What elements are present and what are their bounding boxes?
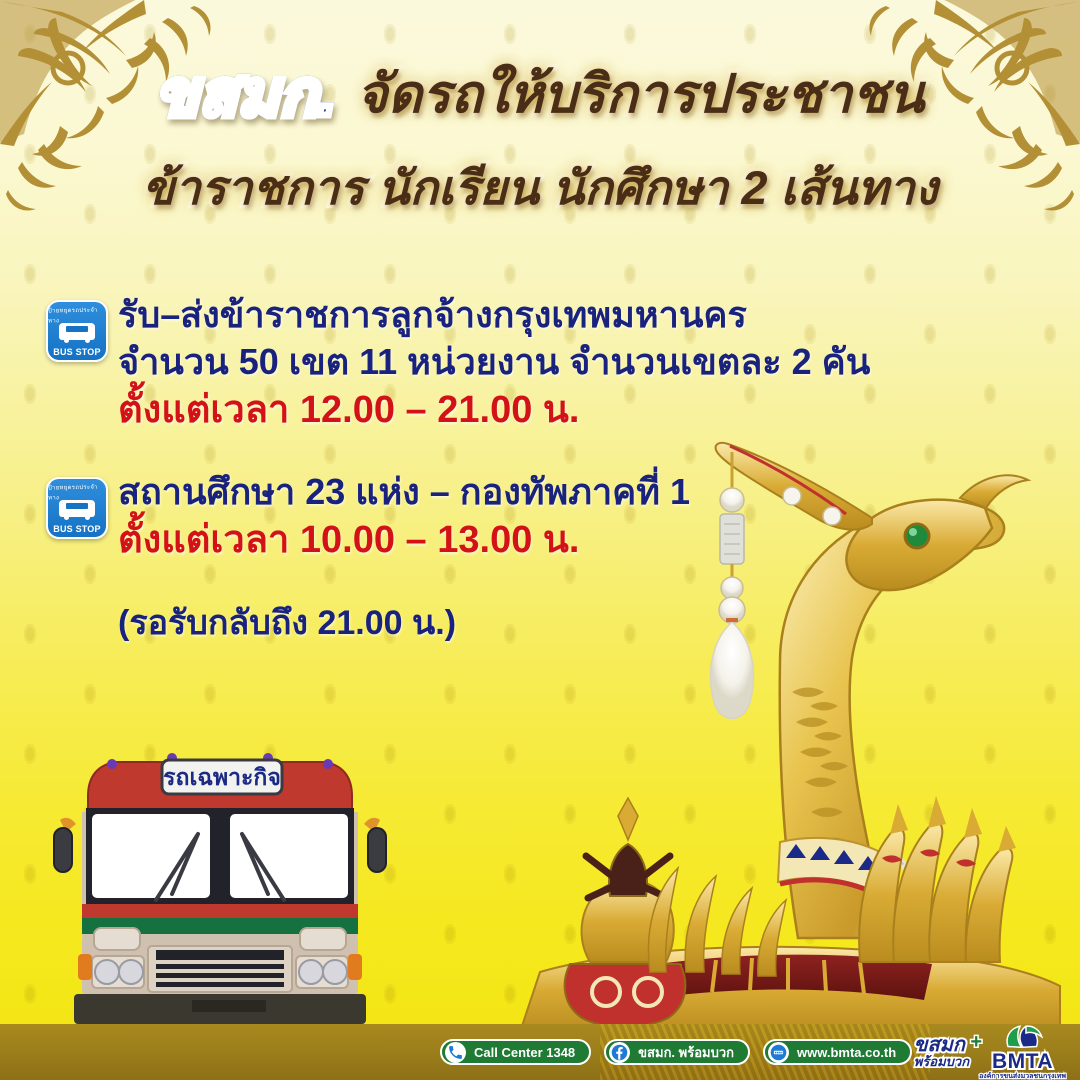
bus-stop-icon-label: BUS STOP [48, 524, 106, 534]
logo-ksmk-line1: ขสมก [914, 1036, 969, 1055]
footer-logos: ขสมก พร้อมบวก + BMTA องค์การขนส่งมวลชนกร… [914, 1024, 1066, 1080]
plus-icon: + [970, 1031, 982, 1054]
poster-root: ขสมก. จัดรถให้บริการประชาชน ข้าราชการ นั… [0, 0, 1080, 1080]
contact-label: Call Center 1348 [474, 1045, 575, 1060]
service-block-1: ป้ายหยุดรถประจำทาง BUS STOP รับ–ส่งข้ารา… [46, 292, 926, 435]
contact-facebook[interactable]: ขสมก. พร้อมบวก [604, 1039, 750, 1065]
return-note: (รอรับกลับถึง 21.00 น.) [46, 601, 926, 645]
service-line: รับ–ส่งข้าราชการลูกจ้างกรุงเทพมหานคร [118, 292, 926, 339]
logo-bmta: BMTA องค์การขนส่งมวลชนกรุงเทพ [979, 1024, 1066, 1080]
logo-bmta-name: BMTA [992, 1051, 1053, 1072]
contact-website[interactable]: www.bmta.co.th [763, 1039, 912, 1065]
logo-ksmk-promnuak: ขสมก พร้อมบวก + [914, 1036, 969, 1068]
service-time: ตั้งแต่เวลา 10.00 – 13.00 น. [118, 516, 926, 565]
bmta-ribbon-icon [1000, 1024, 1046, 1051]
bus-stop-icon-label: BUS STOP [48, 347, 106, 357]
contact-label: ขสมก. พร้อมบวก [638, 1042, 734, 1063]
brand-ksmk: ขสมก. [156, 62, 337, 128]
phone-icon [445, 1042, 466, 1063]
headline-main: จัดรถให้บริการประชาชน [357, 66, 925, 124]
bus-destination-sign: รถเฉพาะกิจ [163, 764, 281, 790]
contact-call-center[interactable]: Call Center 1348 [440, 1039, 591, 1065]
service-line: สถานศึกษา 23 แห่ง – กองทัพภาคที่ 1 [118, 469, 926, 516]
bus-stop-icon: ป้ายหยุดรถประจำทาง BUS STOP [46, 477, 108, 539]
service-time: ตั้งแต่เวลา 12.00 – 21.00 น. [118, 386, 926, 435]
bus-glyph [59, 500, 95, 517]
service-block-2: ป้ายหยุดรถประจำทาง BUS STOP สถานศึกษา 23… [46, 469, 926, 565]
contact-label: www.bmta.co.th [797, 1045, 896, 1060]
bus-illustration: รถเฉพาะกิจ [52, 742, 388, 1042]
website-icon [768, 1042, 789, 1063]
body-content: ป้ายหยุดรถประจำทาง BUS STOP รับ–ส่งข้ารา… [46, 292, 926, 645]
bus-glyph [59, 323, 95, 340]
headline-sub: ข้าราชการ นักเรียน นักศึกษา 2 เส้นทาง [0, 150, 1080, 225]
service-line: จำนวน 50 เขต 11 หน่วยงาน จำนวนเขตละ 2 คั… [118, 339, 926, 386]
facebook-icon [609, 1042, 630, 1063]
headline-group: ขสมก. จัดรถให้บริการประชาชน ข้าราชการ นั… [0, 62, 1080, 225]
bus-stop-icon: ป้ายหยุดรถประจำทาง BUS STOP [46, 300, 108, 362]
footer-bar: Call Center 1348 ขสมก. พร้อมบวก www.bmta… [0, 1024, 1080, 1080]
logo-ksmk-line2: พร้อมบวก [914, 1055, 969, 1068]
contact-badges: Call Center 1348 ขสมก. พร้อมบวก www.bmta… [440, 1039, 912, 1065]
logo-bmta-subtitle: องค์การขนส่งมวลชนกรุงเทพ [979, 1073, 1066, 1080]
